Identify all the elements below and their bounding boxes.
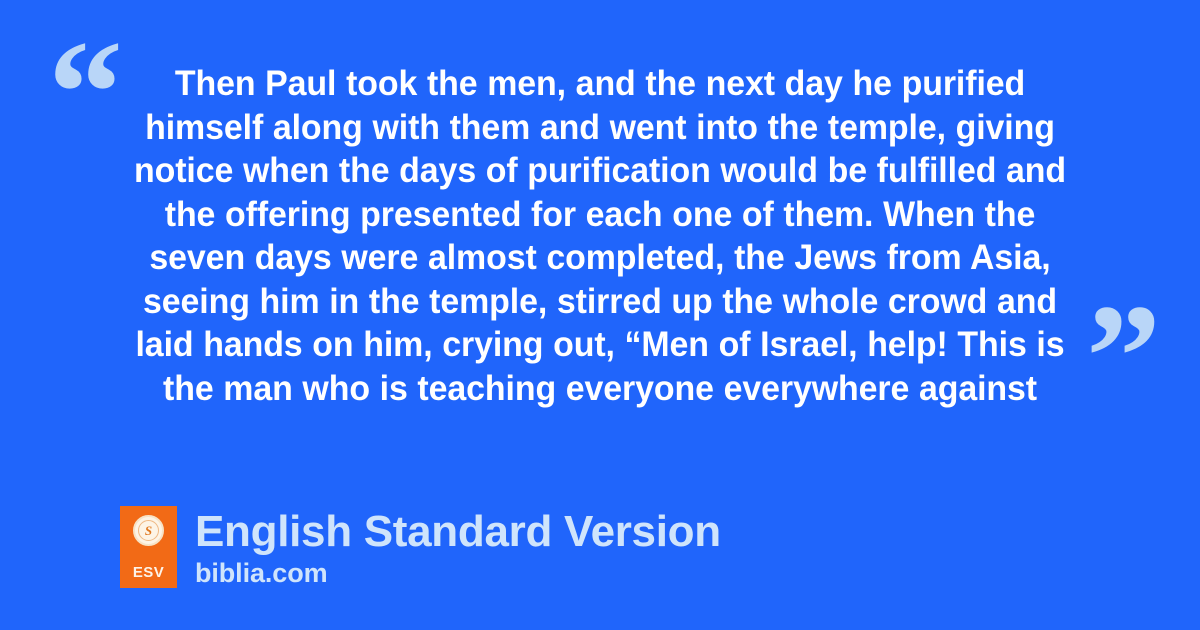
brand-text-group: English Standard Version biblia.com bbox=[195, 506, 721, 589]
bible-version-title: English Standard Version bbox=[195, 507, 721, 557]
bible-verse-card: “ Then Paul took the men, and the next d… bbox=[0, 0, 1200, 630]
brand-footer: S ESV English Standard Version biblia.co… bbox=[120, 506, 721, 589]
esv-abbreviation-label: ESV bbox=[133, 565, 164, 580]
esv-badge: S ESV bbox=[120, 506, 177, 588]
verse-text: Then Paul took the men, and the next day… bbox=[123, 62, 1078, 410]
closing-quote-icon: ” bbox=[1086, 282, 1159, 432]
quote-container: Then Paul took the men, and the next day… bbox=[100, 62, 1100, 432]
esv-seal-icon: S bbox=[133, 515, 164, 546]
esv-seal-inner: S bbox=[138, 520, 159, 541]
esv-monogram: S bbox=[145, 524, 152, 537]
site-url-label: biblia.com bbox=[195, 557, 721, 589]
